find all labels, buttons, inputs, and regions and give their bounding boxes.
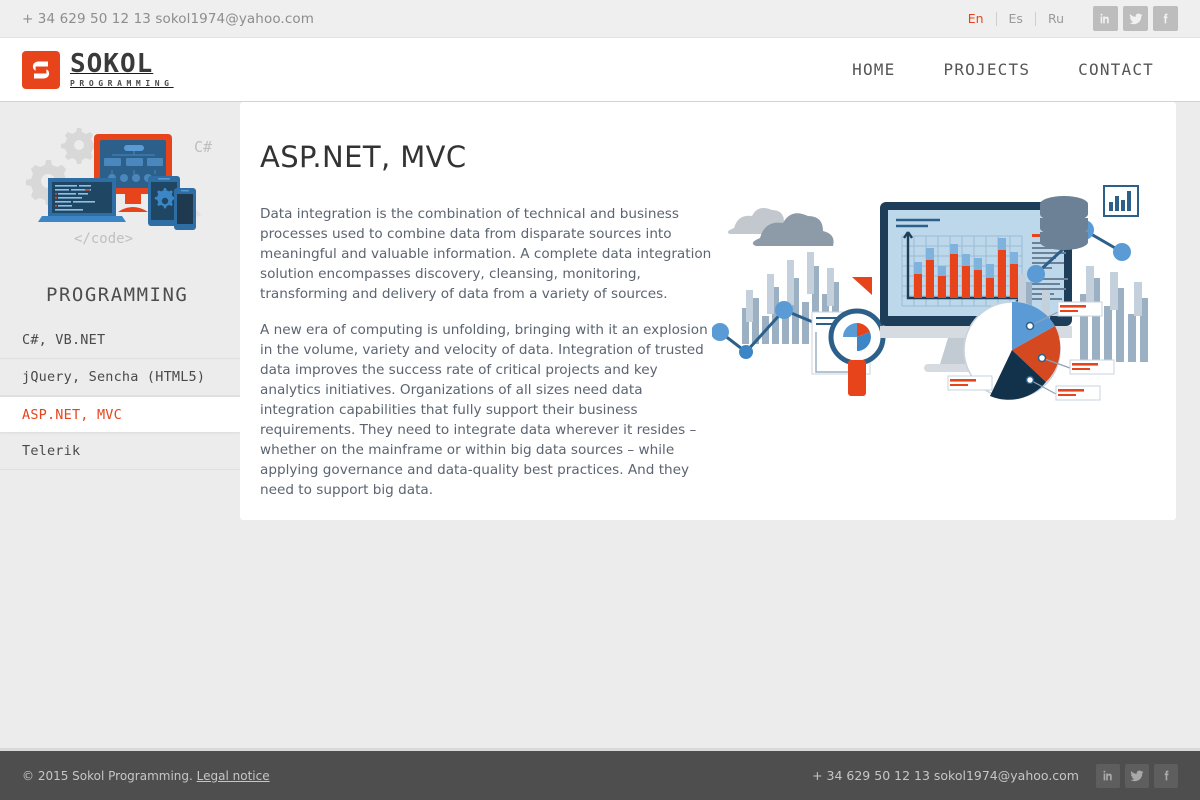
footer-copyright: © 2015 Sokol Programming. Legal notice <box>22 769 270 783</box>
language-switcher[interactable]: En Es Ru <box>956 11 1076 26</box>
paragraph-2: A new era of computing is unfolding, bri… <box>260 320 712 500</box>
lang-es[interactable]: Es <box>997 11 1035 26</box>
nav-item-projects[interactable]: PROJECTS <box>919 60 1054 79</box>
facebook-icon[interactable] <box>1153 6 1178 31</box>
top-bar: + 34 629 50 12 13 sokol1974@yahoo.com En… <box>0 0 1200 38</box>
lang-en[interactable]: En <box>956 11 996 26</box>
logo-name: SOKOL <box>70 49 153 79</box>
sidebar-item-csharp-vbnet[interactable]: C#, VB.NET <box>0 322 240 359</box>
facebook-icon[interactable] <box>1154 764 1178 788</box>
svg-text:C#: C# <box>194 138 212 156</box>
linkedin-icon[interactable] <box>1096 764 1120 788</box>
twitter-icon[interactable] <box>1123 6 1148 31</box>
topbar-right: En Es Ru <box>956 6 1178 31</box>
article-body: Data integration is the combination of t… <box>260 204 712 500</box>
sidebar-item-label: C#, VB.NET <box>22 332 105 348</box>
page-body: C# </code> PROGRAMMING C#, VB.NET jQuery… <box>0 102 1200 750</box>
logo[interactable]: SOKOL PROGRAMMING <box>22 51 174 89</box>
topbar-contact: + 34 629 50 12 13 sokol1974@yahoo.com <box>22 11 314 27</box>
main-nav: HOME PROJECTS CONTACT <box>828 60 1178 79</box>
site-header: SOKOL PROGRAMMING HOME PROJECTS CONTACT <box>0 38 1200 102</box>
sidebar-item-label: jQuery, Sencha (HTML5) <box>22 369 205 385</box>
sidebar-menu: C#, VB.NET jQuery, Sencha (HTML5) ASP.NE… <box>0 322 240 470</box>
sidebar-item-telerik[interactable]: Telerik <box>0 433 240 470</box>
sidebar: C# </code> PROGRAMMING C#, VB.NET jQuery… <box>0 102 240 470</box>
sidebar-item-jquery-sencha[interactable]: jQuery, Sencha (HTML5) <box>0 359 240 396</box>
logo-text: SOKOL PROGRAMMING <box>70 51 174 88</box>
sidebar-item-aspnet-mvc[interactable]: ASP.NET, MVC <box>0 396 240 433</box>
legal-notice-link[interactable]: Legal notice <box>197 769 270 783</box>
data-analytics-illustration <box>712 182 1158 402</box>
svg-text:</code>: </code> <box>74 231 133 247</box>
footer-contact: + 34 629 50 12 13 sokol1974@yahoo.com <box>812 768 1079 783</box>
logo-subtitle: PROGRAMMING <box>70 80 174 88</box>
logo-mark-icon <box>22 51 60 89</box>
lang-ru[interactable]: Ru <box>1036 11 1076 26</box>
footer-right: + 34 629 50 12 13 sokol1974@yahoo.com <box>812 764 1178 788</box>
twitter-icon[interactable] <box>1125 764 1149 788</box>
footer-copyright-text: © 2015 Sokol Programming. <box>22 769 193 783</box>
site-footer: © 2015 Sokol Programming. Legal notice +… <box>0 748 1200 800</box>
page-title: ASP.NET, MVC <box>260 140 1176 174</box>
programming-illustration: C# </code> <box>22 120 222 250</box>
content-card: ASP.NET, MVC Data integration is the com… <box>240 102 1176 520</box>
sidebar-title: PROGRAMMING <box>46 284 240 306</box>
paragraph-1: Data integration is the combination of t… <box>260 204 712 304</box>
sidebar-item-label: ASP.NET, MVC <box>22 407 122 423</box>
nav-item-home[interactable]: HOME <box>828 60 919 79</box>
linkedin-icon[interactable] <box>1093 6 1118 31</box>
nav-item-contact[interactable]: CONTACT <box>1054 60 1178 79</box>
sidebar-item-label: Telerik <box>22 443 80 459</box>
